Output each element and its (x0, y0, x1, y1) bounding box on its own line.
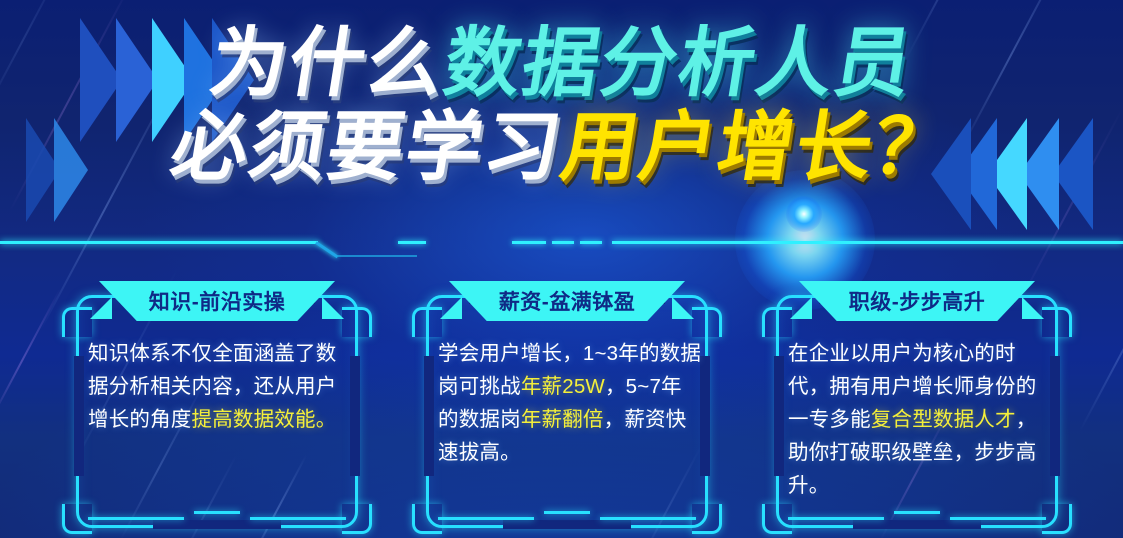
banner-wing-left-icon (90, 297, 112, 319)
card-bottom-rail (894, 511, 940, 514)
card-bottom-rail (788, 517, 884, 520)
card-corner-bracket (62, 307, 92, 337)
card-banner-label: 知识-前沿实操 (149, 286, 286, 316)
card-bottom-rail (950, 517, 1046, 520)
headline-line2-white: 必须要学习 (165, 106, 568, 190)
center-glow-core (786, 196, 822, 232)
feature-card-salary[interactable]: 薪资-盆满钵盈学会用户增长，1~3年的数据岗可挑战年薪25W，5~7年的数据岗年… (412, 281, 722, 534)
section-divider (0, 236, 1123, 250)
card-banner: 薪资-盆满钵盈 (449, 281, 685, 321)
card-banner-label: 职级-步步高升 (849, 286, 986, 316)
frame-notch (503, 520, 631, 529)
frame-notch (424, 356, 434, 476)
frame-notch (153, 520, 281, 529)
frame-notch (774, 356, 784, 476)
card-bottom-rail (88, 517, 184, 520)
card-body-highlight: 提高数据效能。 (192, 408, 337, 431)
card-banner: 职级-步步高升 (799, 281, 1035, 321)
frame-notch (853, 520, 981, 529)
card-body-text: 知识体系不仅全面涵盖了数据分析相关内容，还从用户增长的角度提高数据效能。 (88, 337, 352, 436)
headline-line-1: 为什么数据分析人员 (0, 22, 1123, 106)
feature-card-rank[interactable]: 职级-步步高升在企业以用户为核心的时代，拥有用户增长师身份的一专多能复合型数据人… (762, 281, 1072, 534)
card-body-highlight: 年薪翻倍 (521, 408, 604, 431)
card-corner-bracket (692, 307, 722, 337)
card-banner: 知识-前沿实操 (99, 281, 335, 321)
card-corner-bracket (1042, 504, 1072, 534)
headline-line1-white: 为什么 (204, 22, 451, 106)
feature-card-knowledge[interactable]: 知识-前沿实操知识体系不仅全面涵盖了数据分析相关内容，还从用户增长的角度提高数据… (62, 281, 372, 534)
card-bottom-rail (600, 517, 696, 520)
card-bottom-rail (544, 511, 590, 514)
banner-wing-right-icon (672, 297, 694, 319)
poster-canvas: 为什么数据分析人员 必须要学习用户增长？ 知识-前沿实操知识体系不仅全面涵盖了数… (0, 0, 1123, 538)
banner-wing-left-icon (440, 297, 462, 319)
card-corner-bracket (342, 504, 372, 534)
card-banner-label: 薪资-盆满钵盈 (499, 286, 636, 316)
headline-line1-cyan: 数据分析人员 (438, 22, 919, 106)
card-body-highlight: 复合型数据人才 (871, 408, 1016, 431)
frame-notch (74, 356, 84, 476)
card-body-text: 学会用户增长，1~3年的数据岗可挑战年薪25W，5~7年的数据岗年薪翻倍，薪资快… (438, 337, 702, 469)
card-corner-bracket (692, 504, 722, 534)
card-bottom-rail (194, 511, 240, 514)
card-body-text: 在企业以用户为核心的时代，拥有用户增长师身份的一专多能复合型数据人才，助你打破职… (788, 337, 1052, 502)
banner-wing-left-icon (790, 297, 812, 319)
card-corner-bracket (1042, 307, 1072, 337)
card-bottom-rail (438, 517, 534, 520)
banner-wing-right-icon (322, 297, 344, 319)
card-corner-bracket (762, 307, 792, 337)
banner-wing-right-icon (1022, 297, 1044, 319)
feature-cards: 知识-前沿实操知识体系不仅全面涵盖了数据分析相关内容，还从用户增长的角度提高数据… (0, 281, 1123, 538)
card-bottom-rail (250, 517, 346, 520)
card-body-highlight: 年薪25W (521, 375, 605, 398)
card-corner-bracket (342, 307, 372, 337)
headline-line-2: 必须要学习用户增长？ (0, 106, 1123, 190)
headline-line2-yellow: 用户增长？ (555, 106, 958, 190)
card-corner-bracket (412, 307, 442, 337)
